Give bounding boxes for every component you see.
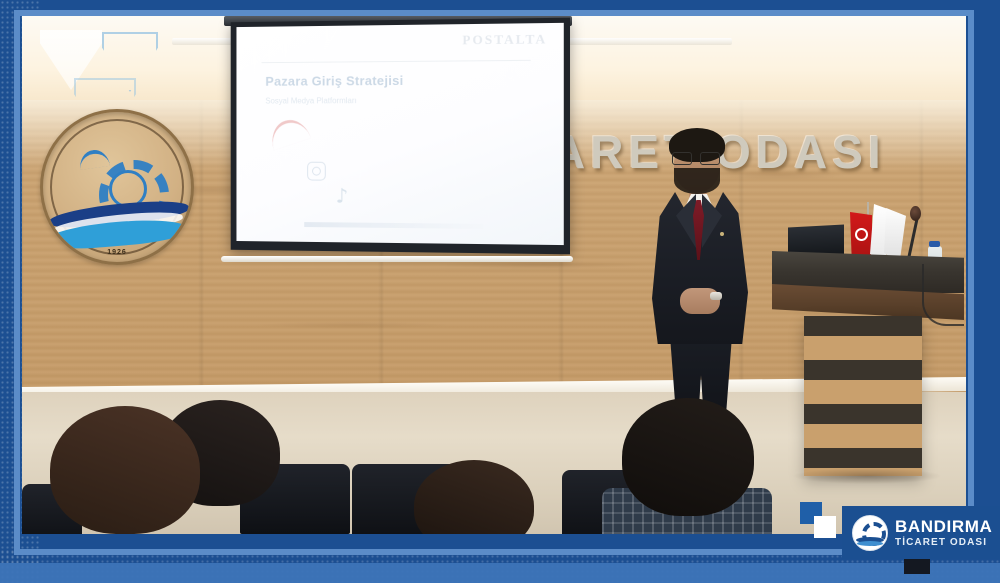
wristwatch-icon <box>710 292 722 300</box>
slide-faint-bar <box>304 222 483 229</box>
screen-bottom-bar <box>221 256 573 262</box>
emblem-year: 1926 <box>43 249 191 256</box>
logo-wave-light <box>857 541 883 546</box>
slide-subtitle: Sosyal Medya Platformları <box>265 95 356 107</box>
lapel-pin-icon <box>720 232 724 236</box>
badge-text-block: BANDIRMA TİCARET ODASI <box>895 518 992 548</box>
audience-head <box>622 398 754 516</box>
badge-accent-square-white <box>814 516 836 538</box>
wall-emblem: 1926 <box>40 109 194 265</box>
swoosh-mark-icon <box>266 115 311 151</box>
tiktok-icon: ♪ <box>336 187 352 205</box>
microphone-icon <box>910 206 921 221</box>
screen-frame: POSTALTA Pazara Giriş Stratejisi Sosyal … <box>231 18 570 255</box>
slide-divider <box>262 60 531 63</box>
photo-viewport: 1926 ARET ODASI POSTALTA Pazara Giriş St… <box>22 16 966 534</box>
audience-head <box>50 406 200 534</box>
speaker-figure <box>636 128 762 428</box>
lectern-shadow <box>792 468 942 484</box>
speaker-beard <box>674 168 720 194</box>
slide-brand-mark: POSTALTA <box>462 31 547 48</box>
chamber-badge: BANDIRMA TİCARET ODASI <box>842 506 1000 559</box>
frame-light-band <box>0 563 1000 583</box>
badge-title: BANDIRMA <box>895 518 992 535</box>
bandirma-chamber-logo-icon <box>852 515 888 551</box>
projected-slide: POSTALTA Pazara Giriş Stratejisi Sosyal … <box>236 23 563 245</box>
bottle-cap <box>929 241 940 247</box>
slide-title: Pazara Giriş Stratejisi <box>265 73 403 89</box>
glasses-icon <box>672 152 720 163</box>
framed-event-photo: 1926 ARET ODASI POSTALTA Pazara Giriş St… <box>0 0 1000 583</box>
instagram-icon <box>307 162 326 181</box>
badge-subtitle: TİCARET ODASI <box>895 538 992 548</box>
projector-screen: POSTALTA Pazara Giriş Stratejisi Sosyal … <box>227 20 567 258</box>
lectern-body <box>804 316 922 476</box>
cable <box>922 264 964 326</box>
